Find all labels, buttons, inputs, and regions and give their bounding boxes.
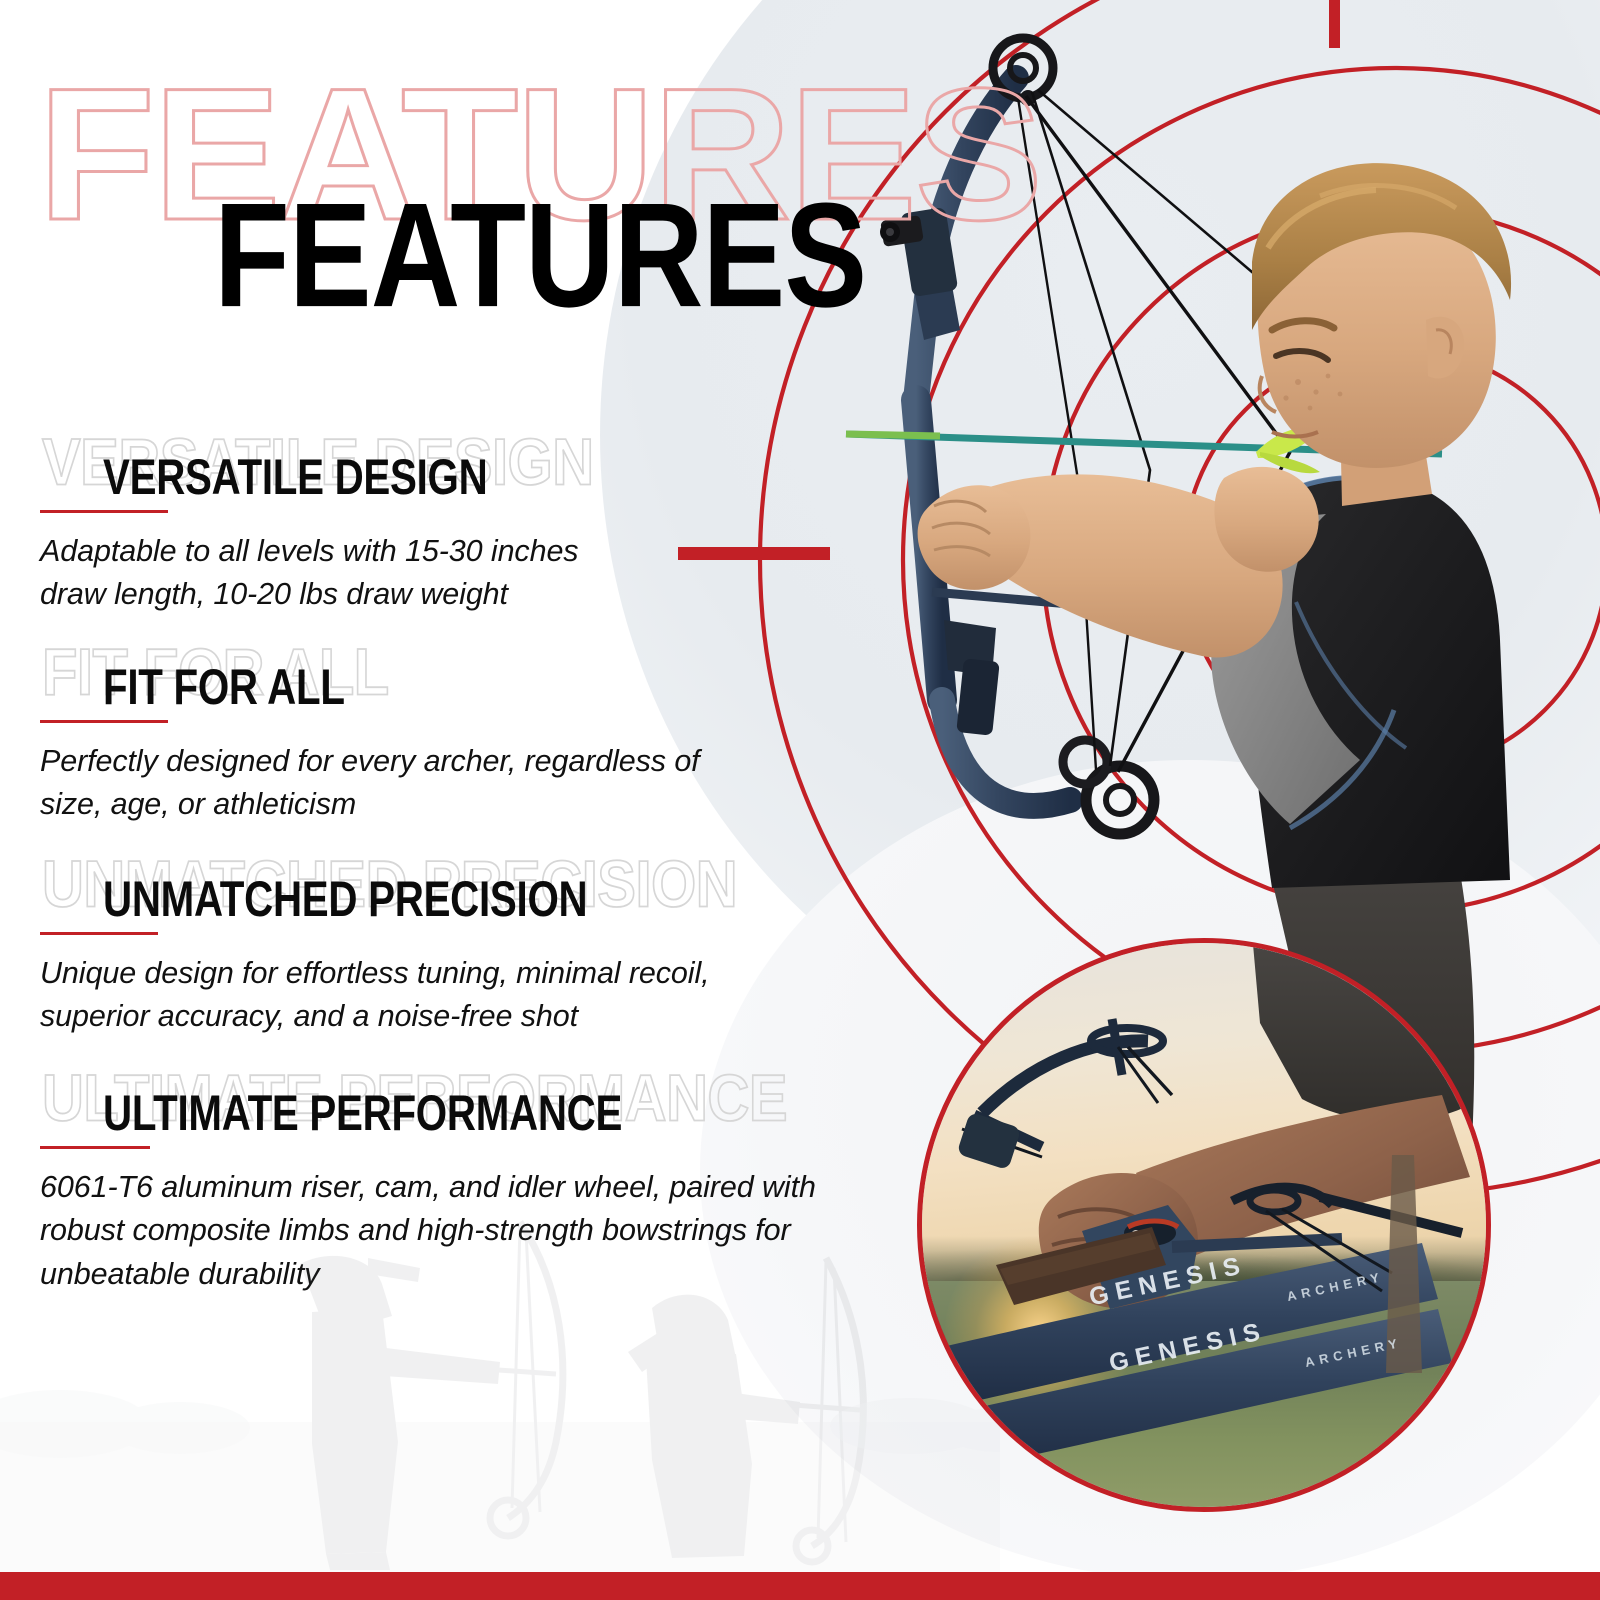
feature-underline: [40, 932, 158, 935]
bottom-accent-bar: [0, 1572, 1600, 1600]
feature-underline: [40, 1146, 150, 1149]
feature-underline: [40, 720, 168, 723]
infographic-canvas: FEATURES FEATURES VERSATILE DESIGN VERSA…: [0, 0, 1600, 1600]
feature-body: Unique design for effortless tuning, min…: [40, 952, 800, 1039]
inset-photo-bow-detail: GENESIS ARCHERY GENESIS ARCHERY: [917, 938, 1491, 1512]
feature-heading: UNMATCHED PRECISION: [103, 874, 587, 924]
feature-heading: FIT FOR ALL: [103, 662, 345, 712]
feature-underline: [40, 510, 168, 513]
background-archers-silhouette: [0, 1212, 1000, 1572]
feature-heading: VERSATILE DESIGN: [103, 452, 487, 502]
inset-bow-graphic: [922, 943, 1491, 1512]
feature-body: Perfectly designed for every archer, reg…: [40, 740, 740, 827]
crosshair-tick-left: [678, 547, 830, 560]
feature-body: Adaptable to all levels with 15-30 inche…: [40, 530, 640, 617]
feature-heading: ULTIMATE PERFORMANCE: [103, 1088, 622, 1138]
page-title: FEATURES: [214, 182, 866, 330]
